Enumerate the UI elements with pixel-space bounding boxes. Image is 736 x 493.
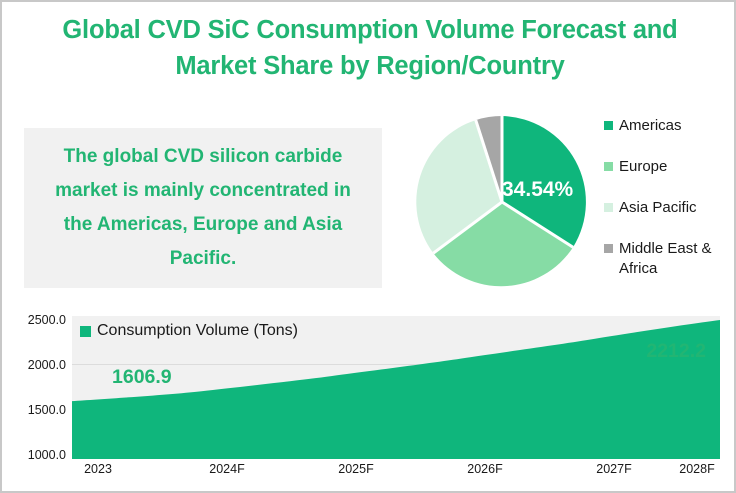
x-tick-2023: 2023	[84, 462, 112, 476]
insight-callout-text: The global CVD silicon carbide market is…	[24, 140, 382, 276]
x-tick-2027f: 2027F	[596, 462, 631, 476]
insight-callout-box: The global CVD silicon carbide market is…	[24, 128, 382, 288]
legend-item-asia-pacific[interactable]: Asia Pacific	[604, 198, 732, 218]
legend-label-asia-pacific: Asia Pacific	[619, 198, 697, 218]
legend-label-europe: Europe	[619, 157, 667, 177]
x-axis: 2023 2024F 2025F 2026F 2027F 2028F	[72, 462, 720, 482]
y-tick-2500: 2500.0	[28, 313, 66, 327]
plot-area: Consumption Volume (Tons) 1606.9 2212.2	[72, 316, 720, 459]
y-tick-2000: 2000.0	[28, 358, 66, 372]
legend-item-americas[interactable]: Americas	[604, 116, 732, 136]
area-series-consumption-volume	[72, 320, 720, 459]
x-tick-2024f: 2024F	[209, 462, 244, 476]
legend-label-middle-east-africa: Middle East & Africa	[619, 239, 732, 279]
market-share-pie-chart: 34.54%	[414, 114, 590, 290]
legend-swatch-icon-middle-east-africa	[604, 244, 613, 253]
legend-label-americas: Americas	[619, 116, 682, 136]
value-label-end: 2212.2	[646, 340, 706, 363]
legend-swatch-icon-americas	[604, 121, 613, 130]
legend-item-europe[interactable]: Europe	[604, 157, 732, 177]
y-tick-1500: 1500.0	[28, 403, 66, 417]
legend-swatch-icon-asia-pacific	[604, 203, 613, 212]
pie-data-label-americas: 34.54%	[502, 178, 573, 202]
page-title: Global CVD SiC Consumption Volume Foreca…	[20, 12, 720, 84]
infographic-canvas: Global CVD SiC Consumption Volume Foreca…	[0, 0, 736, 493]
value-label-start: 1606.9	[112, 366, 172, 389]
x-tick-2028f: 2028F	[679, 462, 714, 476]
x-tick-2026f: 2026F	[467, 462, 502, 476]
x-tick-2025f: 2025F	[338, 462, 373, 476]
legend-swatch-icon-europe	[604, 162, 613, 171]
series-legend[interactable]: Consumption Volume (Tons)	[80, 322, 298, 340]
pie-svg	[414, 114, 590, 290]
legend-item-middle-east-africa[interactable]: Middle East & Africa	[604, 239, 732, 279]
pie-legend: Americas Europe Asia Pacific Middle East…	[604, 116, 732, 300]
consumption-volume-area-chart: 2500.0 2000.0 1500.0 1000.0 Consumption …	[12, 312, 728, 484]
series-swatch-icon	[80, 326, 91, 337]
y-tick-1000: 1000.0	[28, 448, 66, 462]
page-title-line-2: Market Share by Region/Country	[20, 48, 720, 84]
page-title-line-1: Global CVD SiC Consumption Volume Foreca…	[20, 12, 720, 48]
series-legend-label: Consumption Volume (Tons)	[97, 322, 298, 340]
y-axis: 2500.0 2000.0 1500.0 1000.0	[12, 312, 70, 455]
